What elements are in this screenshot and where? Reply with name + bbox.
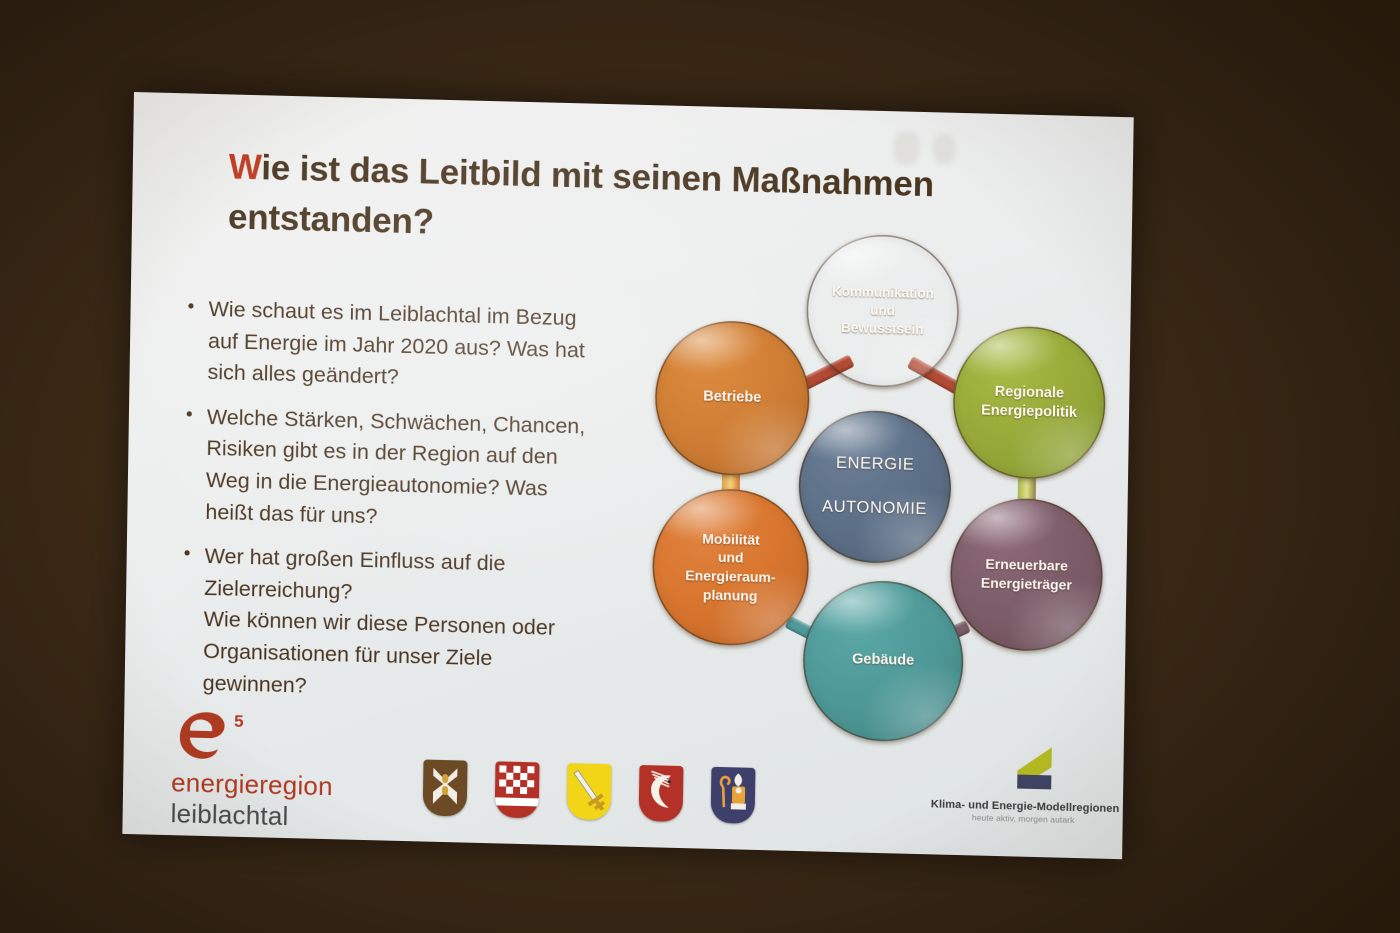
title-highlight-letter: W <box>229 147 262 187</box>
diagram-node-label: Regionale Energiepolitik <box>981 382 1077 423</box>
presentation-slide: Wie ist das Leitbild mit seinen Maßnahme… <box>122 92 1133 859</box>
crest-hohenweiler-icon <box>711 767 756 824</box>
node-line: Energiepolitik <box>981 403 1077 421</box>
diagram-node-regionale-energiepolitik[interactable]: Regionale Energiepolitik <box>952 325 1106 481</box>
node-line: Mobilität <box>702 530 760 547</box>
crest-lochau-icon <box>495 761 540 818</box>
node-line: und <box>870 303 895 319</box>
list-item: • Wer hat großen Einfluss auf die Zieler… <box>176 540 630 709</box>
bullet-marker-icon: • <box>179 401 207 528</box>
crest-hoerbranz-icon <box>423 760 468 817</box>
node-line: und <box>718 549 744 566</box>
list-item: • Wie schaut es im Leiblachtal im Bezug … <box>181 293 634 399</box>
diagram-node-label: Kommunikation und Bewusstsein <box>831 283 934 339</box>
node-line: Bewusstsein <box>841 320 924 337</box>
node-line: Gebäude <box>852 652 914 670</box>
diagram-node-center-energie-autonomie[interactable]: ENERGIE AUTONOMIE <box>798 409 952 565</box>
diagram-node-gebaeude[interactable]: Gebäude <box>802 579 964 743</box>
e5-energieregion-logo: 5 energieregion leiblachtal <box>170 703 382 834</box>
node-line: Betriebe <box>703 389 761 406</box>
diagram-node-label: Mobilität und Energieraum- planung <box>685 529 776 606</box>
crest-moeggers-icon <box>639 765 684 822</box>
e5-logo-mark-icon: 5 <box>171 703 282 768</box>
node-line: Erneuerbare <box>985 556 1068 574</box>
bullet-marker-icon: • <box>176 540 204 699</box>
node-line: Regionale <box>995 384 1065 402</box>
node-line: planung <box>703 586 758 603</box>
kem-logo-mark-icon <box>989 744 1060 798</box>
node-line: ENERGIE <box>836 454 915 474</box>
projected-slide-photo: Wie ist das Leitbild mit seinen Maßnahme… <box>0 0 1400 933</box>
crest-eichenberg-icon <box>567 763 612 820</box>
title-line-2: entstanden? <box>228 197 434 241</box>
diagram-node-erneuerbare-energietraeger[interactable]: Erneuerbare Energieträger <box>949 497 1103 653</box>
list-item-text: Wie schaut es im Leiblachtal im Bezug au… <box>207 294 634 400</box>
diagram-node-label: ENERGIE AUTONOMIE <box>822 453 928 521</box>
list-item: • Welche Stärken, Schwächen, Chancen, Ri… <box>179 401 633 539</box>
kem-logo: Klima- und Energie-Modellregionen heute … <box>931 742 1117 826</box>
municipal-crests-row <box>423 760 756 824</box>
bullet-marker-icon: • <box>181 293 208 388</box>
node-line: Energieträger <box>981 575 1072 593</box>
title-line-1: ie ist das Leitbild mit seinen Maßnahmen <box>261 148 934 204</box>
list-item-text: Wer hat großen Einfluss auf die Zielerre… <box>202 541 630 710</box>
diagram-node-label: Erneuerbare Energieträger <box>981 555 1073 595</box>
node-line: Kommunikation <box>832 284 934 302</box>
diagram-node-label: Betriebe <box>703 388 761 409</box>
energy-autonomy-diagram: Kommunikation und Bewusstsein Regionale … <box>631 225 1110 797</box>
node-line: AUTONOMIE <box>822 497 927 518</box>
list-item-text: Welche Stärken, Schwächen, Chancen, Risi… <box>205 402 633 539</box>
svg-text:5: 5 <box>234 712 244 731</box>
diagram-node-betriebe[interactable]: Betriebe <box>654 319 810 477</box>
bullet-list: • Wie schaut es im Leiblachtal im Bezug … <box>176 293 634 723</box>
diagram-node-label: Gebäude <box>852 651 914 672</box>
node-line: Energieraum- <box>685 567 775 585</box>
e5-logo-line-2: leiblachtal <box>170 798 380 834</box>
